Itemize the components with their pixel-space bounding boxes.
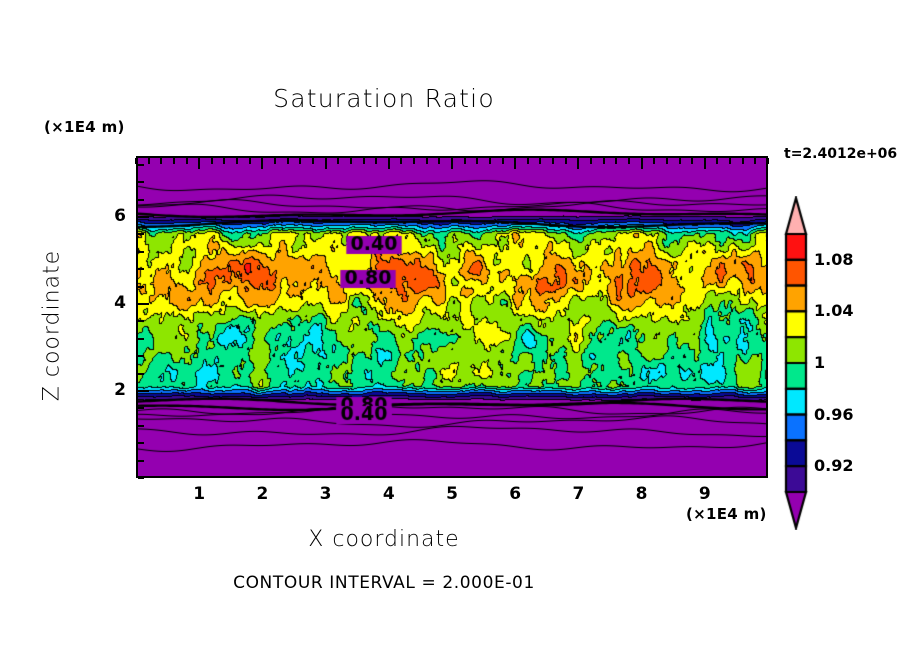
x-axis-minor-tick: [223, 158, 225, 164]
x-axis-unit-label: (×1E4 m): [686, 505, 767, 523]
x-axis-tick-label: 1: [179, 484, 219, 504]
x-axis-minor-tick: [299, 158, 301, 164]
x-axis-minor-tick: [287, 158, 289, 164]
y-axis-major-tick: [138, 390, 149, 392]
x-axis-minor-tick: [767, 158, 769, 164]
y-axis-minor-tick: [138, 320, 144, 322]
x-axis-minor-tick: [628, 158, 630, 164]
x-axis-tick-label: 8: [622, 484, 662, 504]
y-axis-tick-label: 4: [86, 293, 126, 313]
x-axis-minor-tick: [666, 158, 668, 164]
x-axis-major-tick: [641, 158, 643, 169]
y-axis-major-tick: [138, 216, 149, 218]
x-axis-tick-label: 3: [306, 484, 346, 504]
x-axis-title: X coordinate: [0, 527, 768, 552]
y-axis-unit-label: (×1E4 m): [44, 118, 125, 136]
x-axis-major-tick: [577, 158, 579, 169]
x-axis-minor-tick: [679, 158, 681, 164]
colorbar-tick-label: 0.96: [814, 405, 853, 424]
x-axis-minor-tick: [527, 158, 529, 164]
x-axis-major-tick: [388, 158, 390, 169]
x-axis-minor-tick: [426, 158, 428, 164]
y-axis-title: Z coordinate: [40, 216, 65, 436]
x-axis-minor-tick: [274, 158, 276, 164]
x-axis-minor-tick: [742, 158, 744, 164]
time-stamp-annotation: t=2.4012e+06: [784, 146, 897, 162]
page-title: Saturation Ratio: [0, 84, 768, 113]
x-axis-minor-tick: [603, 158, 605, 164]
x-axis-tick-label: 7: [558, 484, 598, 504]
x-axis-minor-tick: [363, 158, 365, 164]
x-axis-minor-tick: [400, 158, 402, 164]
x-axis-minor-tick: [729, 158, 731, 164]
colorbar-tick-label: 1: [814, 353, 825, 372]
y-axis-minor-tick: [138, 199, 144, 201]
x-axis-minor-tick: [539, 158, 541, 164]
x-axis-minor-tick: [236, 158, 238, 164]
x-axis-major-tick: [514, 158, 516, 169]
x-axis-minor-tick: [754, 158, 756, 164]
contour-plot-area: [136, 156, 768, 478]
x-axis-minor-tick: [552, 158, 554, 164]
saturation-ratio-field: [138, 158, 768, 478]
x-axis-minor-tick: [489, 158, 491, 164]
x-axis-major-tick: [451, 158, 453, 169]
y-axis-minor-tick: [138, 355, 144, 357]
x-axis-minor-tick: [476, 158, 478, 164]
colorbar-tick-label: 1.04: [814, 301, 853, 320]
x-axis-tick-label: 4: [369, 484, 409, 504]
x-axis-minor-tick: [249, 158, 251, 164]
contour-interval-note: CONTOUR INTERVAL = 2.000E-01: [0, 573, 768, 593]
x-axis-minor-tick: [211, 158, 213, 164]
y-axis-minor-tick: [138, 460, 144, 462]
y-axis-minor-tick: [138, 164, 144, 166]
x-axis-minor-tick: [464, 158, 466, 164]
x-axis-minor-tick: [160, 158, 162, 164]
x-axis-minor-tick: [565, 158, 567, 164]
x-axis-minor-tick: [186, 158, 188, 164]
x-axis-minor-tick: [135, 158, 137, 164]
x-axis-tick-label: 2: [242, 484, 282, 504]
x-axis-minor-tick: [590, 158, 592, 164]
x-axis-major-tick: [704, 158, 706, 169]
y-axis-minor-tick: [138, 233, 144, 235]
y-axis-minor-tick: [138, 251, 144, 253]
x-axis-major-tick: [261, 158, 263, 169]
x-axis-minor-tick: [148, 158, 150, 164]
x-axis-minor-tick: [350, 158, 352, 164]
y-axis-minor-tick: [138, 407, 144, 409]
y-axis-minor-tick: [138, 286, 144, 288]
x-axis-tick-label: 9: [685, 484, 725, 504]
x-axis-minor-tick: [312, 158, 314, 164]
x-axis-major-tick: [325, 158, 327, 169]
y-axis-minor-tick: [138, 338, 144, 340]
y-axis-minor-tick: [138, 373, 144, 375]
x-axis-minor-tick: [691, 158, 693, 164]
y-axis-minor-tick: [138, 442, 144, 444]
x-axis-minor-tick: [438, 158, 440, 164]
x-axis-minor-tick: [375, 158, 377, 164]
x-axis-minor-tick: [653, 158, 655, 164]
x-axis-minor-tick: [716, 158, 718, 164]
y-axis-minor-tick: [138, 181, 144, 183]
colorbar-tick-label: 0.92: [814, 456, 853, 475]
y-axis-minor-tick: [138, 477, 144, 479]
colorbar-tick-label: 1.08: [814, 250, 853, 269]
y-axis-minor-tick: [138, 268, 144, 270]
y-axis-tick-label: 2: [86, 380, 126, 400]
y-axis-tick-label: 6: [86, 206, 126, 226]
x-axis-minor-tick: [173, 158, 175, 164]
x-axis-tick-label: 5: [432, 484, 472, 504]
x-axis-minor-tick: [502, 158, 504, 164]
x-axis-tick-label: 6: [495, 484, 535, 504]
y-axis-major-tick: [138, 303, 149, 305]
x-axis-major-tick: [198, 158, 200, 169]
x-axis-minor-tick: [337, 158, 339, 164]
x-axis-minor-tick: [413, 158, 415, 164]
x-axis-minor-tick: [615, 158, 617, 164]
y-axis-minor-tick: [138, 425, 144, 427]
